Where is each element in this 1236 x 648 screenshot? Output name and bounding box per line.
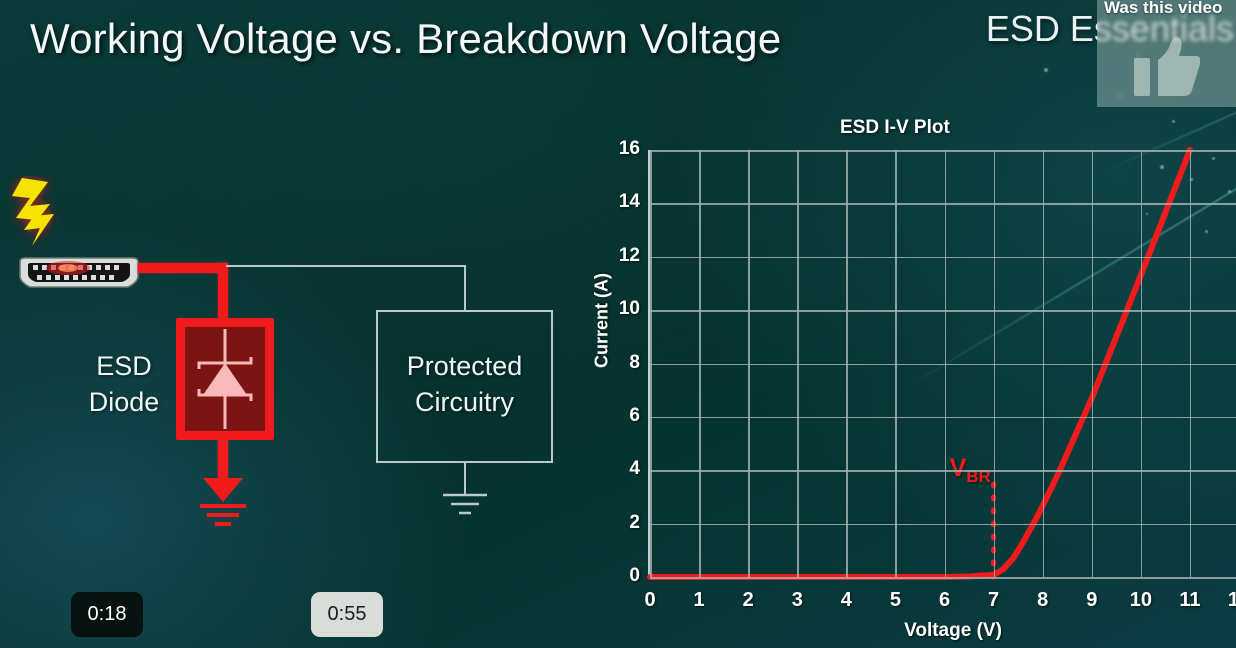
decor-spark: [1044, 68, 1048, 72]
gridline-horizontal: [650, 417, 1236, 419]
gridline-horizontal: [650, 364, 1236, 366]
x-axis-tick-label: 10: [1126, 589, 1156, 612]
x-axis-tick-label: 5: [880, 589, 910, 612]
esd-diode-label-line2: Diode: [76, 384, 172, 420]
x-axis-tick-label: 2: [733, 589, 763, 612]
feedback-question-text: Was this video: [1104, 0, 1222, 18]
x-axis-tick-label: 1: [684, 589, 714, 612]
protected-circuitry-line1: Protected: [376, 348, 553, 384]
x-axis-tick-label: 4: [831, 589, 861, 612]
y-axis-tick-label: 12: [610, 245, 640, 267]
hdmi-connector-icon: [16, 256, 142, 292]
ground-symbol-esd-icon: [193, 474, 253, 530]
esd-diode-label: ESD Diode: [76, 348, 172, 420]
esd-diode-label-line1: ESD: [76, 348, 172, 384]
gridline-horizontal: [650, 203, 1236, 205]
wire-surge-vertical: [218, 263, 228, 325]
y-axis-tick-label: 2: [610, 512, 640, 534]
x-axis-tick-label: 6: [930, 589, 960, 612]
circuit-diagram: ESD Diode Protected Circuitry: [0, 150, 600, 570]
esd-diode-component: [176, 318, 274, 440]
gridline-horizontal: [650, 470, 1236, 472]
y-axis-tick-label: 8: [610, 352, 640, 374]
gridline-horizontal: [650, 310, 1236, 312]
x-axis-tick-label: 8: [1028, 589, 1058, 612]
y-axis-tick-label: 14: [610, 191, 640, 213]
wire-protected-to-ground: [464, 462, 466, 494]
protected-circuitry-line2: Circuitry: [376, 384, 553, 420]
gridline-horizontal: [650, 524, 1236, 526]
y-axis-tick-label: 10: [610, 298, 640, 320]
gridline-horizontal: [650, 577, 1236, 579]
y-axis-tick-label: 0: [610, 565, 640, 587]
wire-signal-vertical: [464, 265, 466, 312]
chart-title: ESD I-V Plot: [840, 117, 950, 139]
x-axis-title: Voltage (V): [863, 620, 1043, 642]
y-axis-tick-label: 6: [610, 405, 640, 427]
video-frame: Working Voltage vs. Breakdown Voltage ES…: [0, 0, 1236, 648]
thumbs-up-icon[interactable]: [1134, 36, 1200, 98]
ground-symbol-protected-icon: [440, 491, 490, 521]
x-axis-tick-label: 11: [1175, 589, 1205, 612]
vbr-symbol: V: [950, 454, 967, 482]
total-time-badge[interactable]: 0:55: [311, 592, 383, 637]
y-axis-tick-label: 4: [610, 458, 640, 480]
page-title: Working Voltage vs. Breakdown Voltage: [30, 15, 781, 63]
current-time-badge[interactable]: 0:18: [71, 592, 143, 637]
gridline-horizontal: [650, 257, 1236, 259]
gridline-horizontal: [650, 150, 1236, 152]
protected-circuitry-label: Protected Circuitry: [376, 348, 553, 420]
esd-iv-chart: ESD I-V Plot Current (A) Voltage (V) VBR…: [575, 110, 1236, 648]
wire-signal-horizontal: [226, 265, 466, 267]
plot-area: VBR 01234567891011120246810121416: [648, 150, 1236, 577]
lightning-bolt-icon: [8, 176, 74, 262]
x-axis-tick-label: 0: [635, 589, 665, 612]
x-axis-tick-label: 7: [979, 589, 1009, 612]
wire-surge-horizontal: [138, 263, 228, 273]
x-axis-tick-label: 12: [1224, 589, 1236, 612]
x-axis-tick-label: 3: [782, 589, 812, 612]
x-axis-tick-label: 9: [1077, 589, 1107, 612]
y-axis-tick-label: 16: [610, 138, 640, 160]
